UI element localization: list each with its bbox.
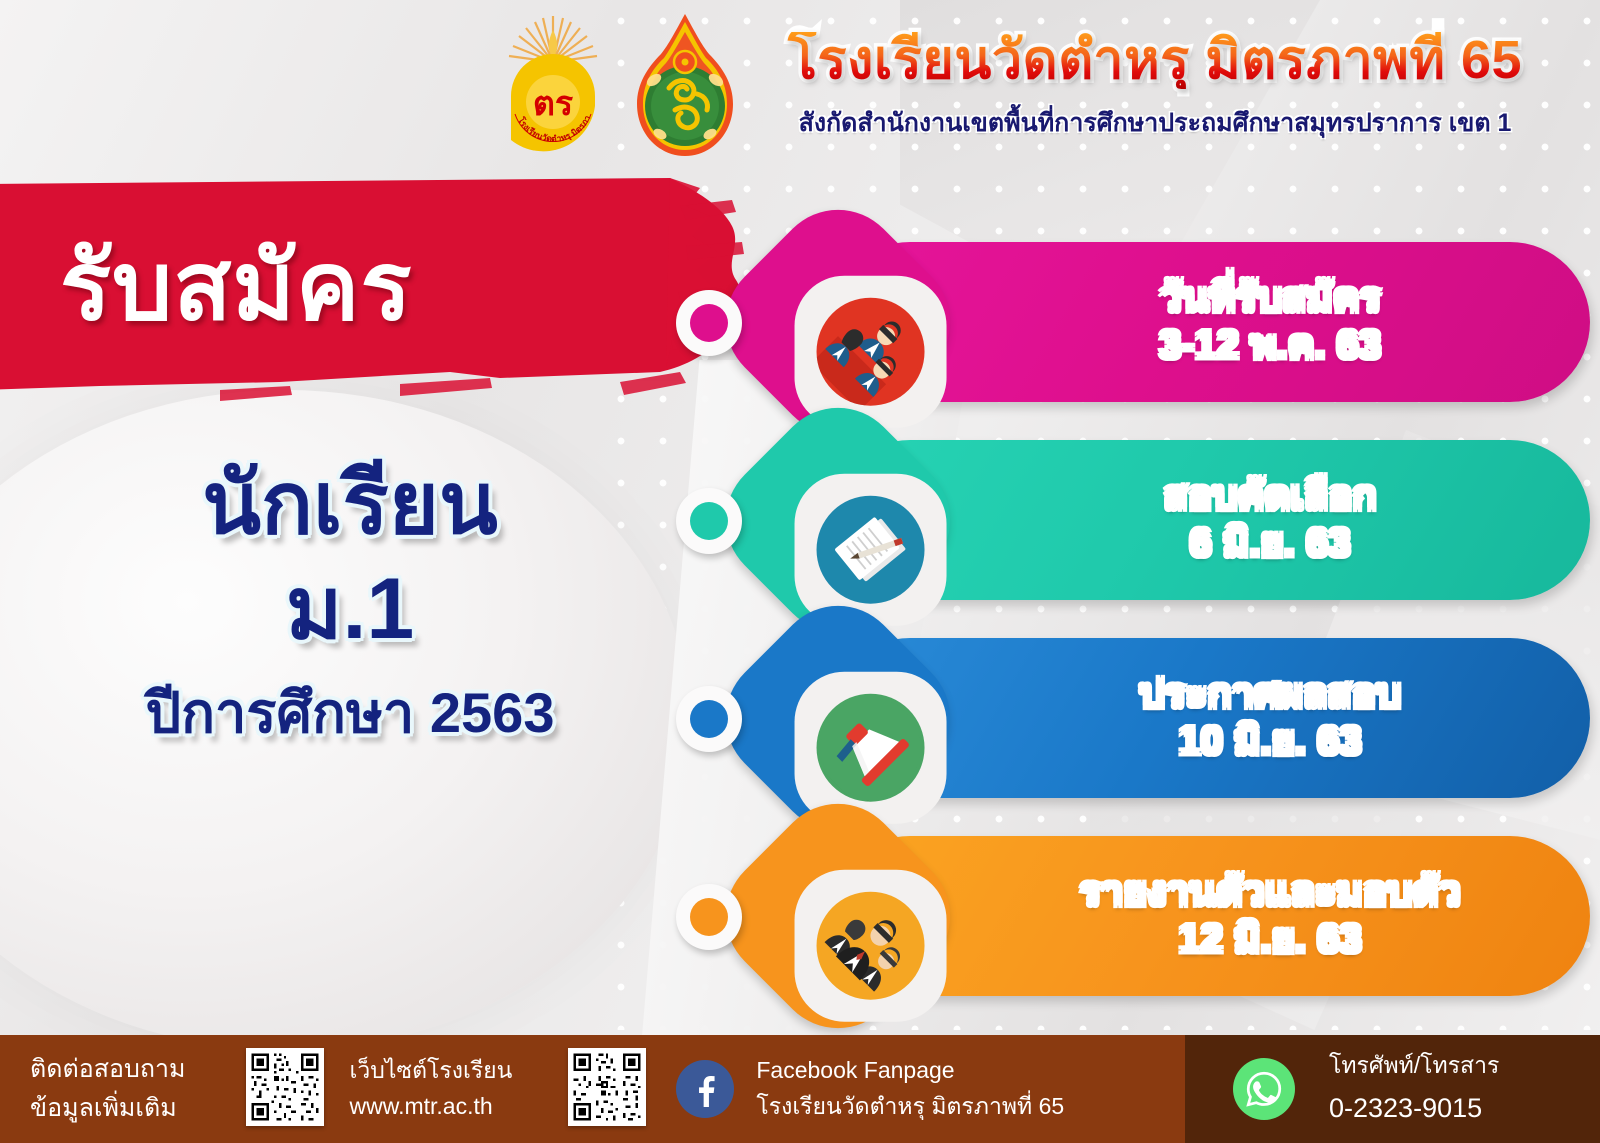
contact-line-2: ข้อมูลเพิ่มเติม	[30, 1089, 186, 1128]
phone-label: โทรศัพท์/โทรสาร	[1329, 1048, 1499, 1084]
timeline-item-results[interactable]: ประกาศผลสอบ 10 มิ.ย. 63	[700, 626, 1600, 816]
website-info-block: เว็บไซต์โรงเรียน www.mtr.ac.th	[350, 1053, 513, 1124]
svg-text:ตร: ตร	[533, 85, 574, 123]
school-torch-emblem: ตร โรงเรียนวัดตำหรุ มิตรภาพที่ ๖๕	[492, 10, 614, 170]
header-title-block: โรงเรียนวัดตำหรุ มิตรภาพที่ 65 โรงเรียนว…	[760, 32, 1550, 143]
timeline-node-dot	[690, 700, 728, 738]
pill-title: สอบคัดเลือก	[1045, 473, 1495, 520]
timeline-item-exam[interactable]: สอบคัดเลือก 6 มิ.ย. 63	[700, 428, 1600, 618]
contact-label-block: ติดต่อสอบถาม ข้อมูลเพิ่มเติม	[30, 1050, 186, 1128]
qr-code-facebook-image	[568, 1048, 646, 1126]
footer-right-section: โทรศัพท์/โทรสาร 0-2323-9015	[1185, 1035, 1600, 1143]
qr-code-facebook[interactable]	[568, 1048, 646, 1131]
students-group-icon	[794, 275, 947, 428]
megaphone-announcement-icon	[794, 671, 947, 824]
timeline-node-dot	[690, 898, 728, 936]
pill-text-block: วันที่รับสมัคร 3-12 พ.ค. 63	[1045, 275, 1495, 369]
phone-number: 0-2323-9015	[1329, 1088, 1499, 1130]
pill-date: 12 มิ.ย. 63	[1045, 916, 1495, 963]
pill-text-block: ประกาศผลสอบ 10 มิ.ย. 63	[1045, 671, 1495, 765]
exam-paper-pen-icon	[794, 473, 947, 626]
facebook-info-block: Facebook Fanpage โรงเรียนวัดตำหรุ มิตรภา…	[756, 1053, 1064, 1124]
banner-word: รับสมัคร	[60, 210, 413, 361]
poster-footer: ติดต่อสอบถาม ข้อมูลเพิ่มเติม	[0, 1035, 1600, 1143]
timeline-node-dot	[690, 304, 728, 342]
pill-text-block: รายงานตัวและมอบตัว 12 มิ.ย. 63	[1045, 869, 1495, 963]
timeline-node	[676, 290, 742, 356]
pill-title: วันที่รับสมัคร	[1045, 275, 1495, 322]
pill-icon-inner-ring	[795, 474, 947, 626]
facebook-icon[interactable]	[676, 1060, 734, 1118]
contact-line-1: ติดต่อสอบถาม	[30, 1050, 186, 1089]
timeline-node	[676, 686, 742, 752]
timeline-item-report[interactable]: รายงานตัวและมอบตัว 12 มิ.ย. 63	[700, 824, 1600, 1014]
left-headline-block: นักเรียน ม.1 ปีการศึกษา 2563	[0, 455, 700, 745]
qr-code-website[interactable]	[246, 1048, 324, 1131]
logo-group: ตร โรงเรียนวัดตำหรุ มิตรภาพที่ ๖๕	[492, 10, 746, 170]
website-url[interactable]: www.mtr.ac.th	[350, 1089, 513, 1125]
poster-header: ตร โรงเรียนวัดตำหรุ มิตรภาพที่ ๖๕	[0, 0, 1600, 190]
school-subtitle: สังกัดสำนักงานเขตพื้นที่การศึกษาประถมศึก…	[760, 103, 1550, 143]
headline-line-2: ม.1	[0, 560, 700, 659]
pill-icon-inner-ring	[795, 276, 947, 428]
headline-line-3: ปีการศึกษา 2563	[0, 681, 700, 745]
pill-title: รายงานตัวและมอบตัว	[1045, 869, 1495, 916]
headline-line-1: นักเรียน	[0, 455, 700, 554]
pill-date: 10 มิ.ย. 63	[1045, 718, 1495, 765]
pill-title: ประกาศผลสอบ	[1045, 671, 1495, 718]
qr-code-website-image	[246, 1048, 324, 1126]
facebook-label: Facebook Fanpage	[756, 1053, 1064, 1089]
website-label: เว็บไซต์โรงเรียน	[350, 1053, 513, 1089]
timeline-node	[676, 884, 742, 950]
pill-date: 6 มิ.ย. 63	[1045, 520, 1495, 567]
timeline-node-dot	[690, 502, 728, 540]
facebook-page-name: โรงเรียนวัดตำหรุ มิตรภาพที่ 65	[756, 1089, 1064, 1125]
poster-root: ตร โรงเรียนวัดตำหรุ มิตรภาพที่ ๖๕	[0, 0, 1600, 1143]
pill-icon-inner-ring	[795, 870, 947, 1022]
whatsapp-phone-icon[interactable]	[1233, 1058, 1295, 1120]
facebook-glyph	[687, 1071, 723, 1107]
pill-icon-inner-ring	[795, 672, 947, 824]
report-people-icon	[794, 869, 947, 1022]
pill-date: 3-12 พ.ค. 63	[1045, 322, 1495, 369]
pill-text-block: สอบคัดเลือก 6 มิ.ย. 63	[1045, 473, 1495, 567]
timeline-item-registration[interactable]: วันที่รับสมัคร 3-12 พ.ค. 63	[700, 230, 1600, 420]
timeline-list: วันที่รับสมัคร 3-12 พ.ค. 63	[700, 230, 1600, 1010]
phone-info-block: โทรศัพท์/โทรสาร 0-2323-9015	[1329, 1048, 1499, 1130]
whatsapp-glyph	[1243, 1068, 1285, 1110]
timeline-node	[676, 488, 742, 554]
footer-left-section: ติดต่อสอบถาม ข้อมูลเพิ่มเติม	[0, 1035, 1185, 1143]
school-title: โรงเรียนวัดตำหรุ มิตรภาพที่ 65	[760, 32, 1550, 89]
ministry-of-education-emblem	[624, 10, 746, 170]
